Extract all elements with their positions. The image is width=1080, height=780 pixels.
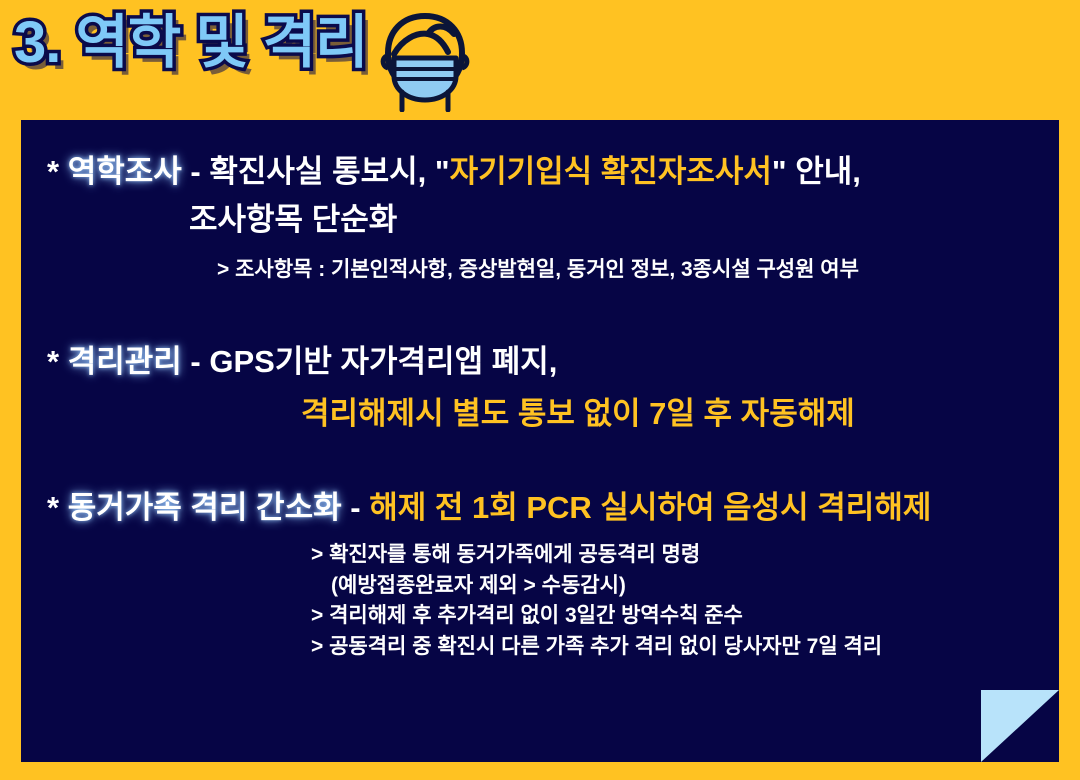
section-2-dash: - [190, 344, 200, 379]
section-3-highlight: 해제 전 1회 PCR 실시하여 음성시 격리해제 [369, 490, 931, 525]
section-cohabiting-family: * 동거가족 격리 간소화 - 해제 전 1회 PCR 실시하여 음성시 격리해… [21, 488, 1059, 662]
masked-person-icon [372, 10, 478, 112]
section-3-line-1: * 동거가족 격리 간소화 - 해제 전 1회 PCR 실시하여 음성시 격리해… [21, 488, 1059, 528]
page-title: 3. 역학 및 격리 [14, 14, 368, 72]
section-1-dash: - [190, 154, 200, 189]
section-3-sub-item-2: (예방접종완료자 제외 > 수동감시) [21, 571, 1059, 601]
section-1-line-1: * 역학조사 - 확진사실 통보시, "자기기입식 확진자조사서" 안내, [21, 152, 1059, 192]
quote-open: " [435, 154, 450, 189]
section-quarantine-management: * 격리관리 - GPS기반 자가격리앱 폐지, 격리해제시 별도 통보 없이 … [21, 342, 1059, 435]
section-1-highlight: 자기기입식 확진자조사서 [450, 154, 772, 189]
section-3-sub-item-3: > 격리해제 후 추가격리 없이 3일간 방역수칙 준수 [21, 601, 1059, 631]
section-1-lead: 확진사실 통보시, [209, 154, 426, 189]
section-3-heading: 동거가족 격리 간소화 [68, 490, 342, 525]
slide-header: 3. 역학 및 격리 [0, 0, 1080, 120]
section-2-heading: 격리관리 [68, 344, 182, 379]
section-3-sub-item-1: > 확진자를 통해 동거가족에게 공동격리 명령 [21, 540, 1059, 570]
section-1-line-2: 조사항목 단순화 [21, 200, 1059, 240]
section-1-tail: 안내, [795, 154, 861, 189]
section-2-line-1: * 격리관리 - GPS기반 자가격리앱 폐지, [21, 342, 1059, 382]
section-3-dash: - [350, 490, 360, 525]
section-2-lead: GPS기반 자가격리앱 폐지, [209, 344, 557, 379]
content-panel: * 역학조사 - 확진사실 통보시, "자기기입식 확진자조사서" 안내, 조사… [21, 120, 1059, 762]
section-3-sub-item-4: > 공동격리 중 확진시 다른 가족 추가 격리 없이 당사자만 7일 격리 [21, 632, 1059, 662]
section-1-sub-item-1: > 조사항목 : 기본인적사항, 증상발현일, 동거인 정보, 3종시설 구성원… [21, 255, 1059, 285]
bullet-marker: * [47, 490, 59, 525]
corner-triangle-decoration [981, 690, 1059, 762]
quote-close: " [772, 154, 787, 189]
section-epidemiological-survey: * 역학조사 - 확진사실 통보시, "자기기입식 확진자조사서" 안내, 조사… [21, 152, 1059, 285]
section-2-line-2-highlight: 격리해제시 별도 통보 없이 7일 후 자동해제 [21, 394, 1059, 434]
bullet-marker: * [47, 344, 59, 379]
section-1-heading: 역학조사 [68, 154, 182, 189]
bullet-marker: * [47, 154, 59, 189]
